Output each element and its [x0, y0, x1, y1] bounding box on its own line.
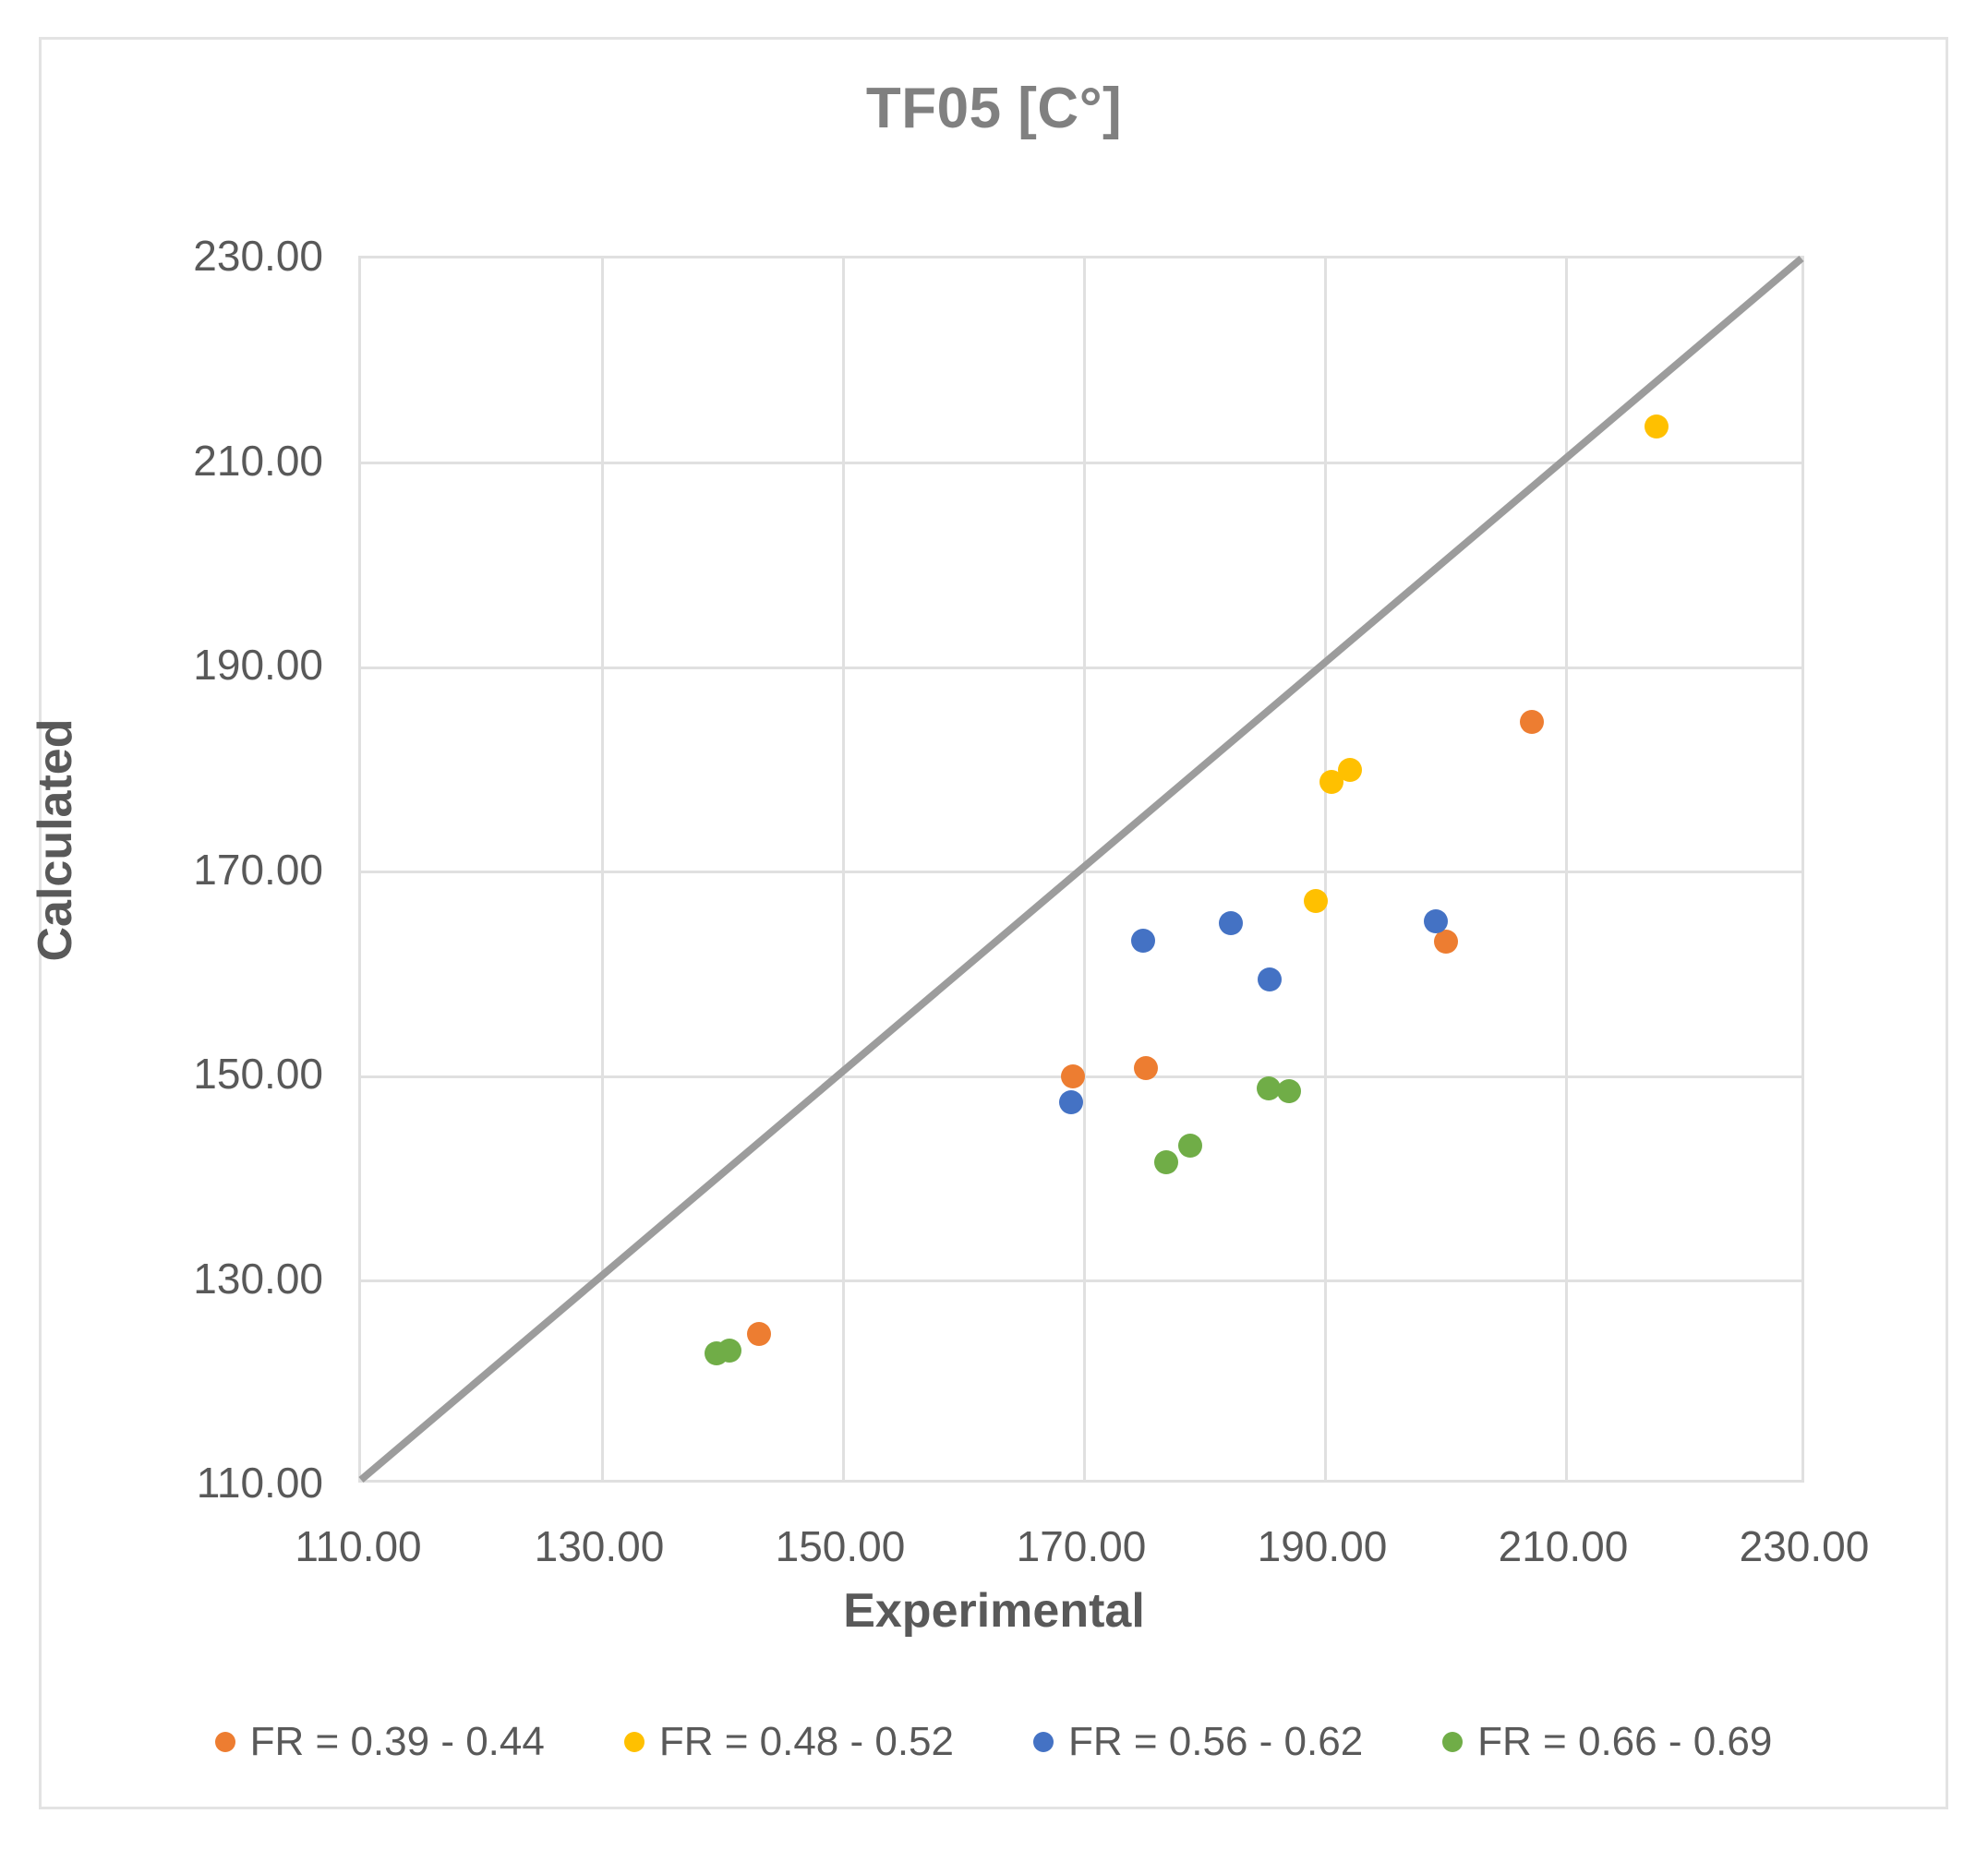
- data-point: [1520, 710, 1544, 734]
- y-axis-tick-label: 230.00: [18, 231, 323, 281]
- parity-reference-line: [361, 258, 1801, 1480]
- legend-marker-icon: [1442, 1732, 1463, 1752]
- legend-item[interactable]: FR = 0.39 - 0.44: [215, 1719, 545, 1765]
- data-point: [1277, 1079, 1301, 1103]
- y-axis-tick-label: 130.00: [18, 1254, 323, 1303]
- x-axis-tick-label: 130.00: [461, 1521, 738, 1571]
- x-axis-tick-label: 230.00: [1666, 1521, 1943, 1571]
- data-point: [1338, 758, 1362, 782]
- x-axis-tick-label: 110.00: [220, 1521, 497, 1571]
- y-axis-tick-label: 150.00: [18, 1049, 323, 1099]
- legend-marker-icon: [215, 1732, 235, 1752]
- x-axis-tick-label: 210.00: [1425, 1521, 1702, 1571]
- legend-item-label: FR = 0.66 - 0.69: [1477, 1719, 1772, 1765]
- x-axis-title: Experimental: [0, 1583, 1988, 1639]
- legend-item-label: FR = 0.48 - 0.52: [659, 1719, 954, 1765]
- data-point: [1258, 967, 1282, 991]
- data-point: [1178, 1134, 1202, 1158]
- data-point: [1131, 929, 1155, 953]
- data-point: [1154, 1150, 1178, 1174]
- data-point: [1059, 1090, 1083, 1114]
- data-point: [747, 1322, 771, 1346]
- data-point: [1134, 1056, 1158, 1080]
- y-axis-tick-label: 170.00: [18, 845, 323, 895]
- legend-marker-icon: [624, 1732, 645, 1752]
- x-axis-tick-label: 170.00: [943, 1521, 1220, 1571]
- legend-item[interactable]: FR = 0.56 - 0.62: [1033, 1719, 1363, 1765]
- data-point: [1061, 1064, 1085, 1088]
- plot-area: [358, 256, 1804, 1483]
- legend-item-label: FR = 0.39 - 0.44: [250, 1719, 545, 1765]
- x-axis-tick-label: 190.00: [1184, 1521, 1461, 1571]
- x-axis-tick-label: 150.00: [702, 1521, 979, 1571]
- legend-item[interactable]: FR = 0.66 - 0.69: [1442, 1719, 1772, 1765]
- legend-item[interactable]: FR = 0.48 - 0.52: [624, 1719, 954, 1765]
- chart-legend: FR = 0.39 - 0.44FR = 0.48 - 0.52FR = 0.5…: [39, 1719, 1948, 1765]
- legend-item-label: FR = 0.56 - 0.62: [1068, 1719, 1363, 1765]
- data-point: [1304, 889, 1328, 913]
- data-point: [1424, 909, 1448, 933]
- y-axis-tick-label: 210.00: [18, 436, 323, 486]
- data-point: [1219, 911, 1243, 935]
- chart-title: TF05 [C°]: [0, 76, 1988, 141]
- data-point: [1434, 930, 1458, 954]
- data-point: [717, 1339, 741, 1363]
- y-axis-tick-label: 190.00: [18, 640, 323, 690]
- legend-marker-icon: [1033, 1732, 1054, 1752]
- data-point: [1645, 414, 1669, 438]
- y-axis-tick-label: 110.00: [18, 1458, 323, 1508]
- y-axis-title: Calculated: [28, 545, 83, 1135]
- chart-container: TF05 [C°] Calculated Experimental 110.00…: [0, 0, 1988, 1850]
